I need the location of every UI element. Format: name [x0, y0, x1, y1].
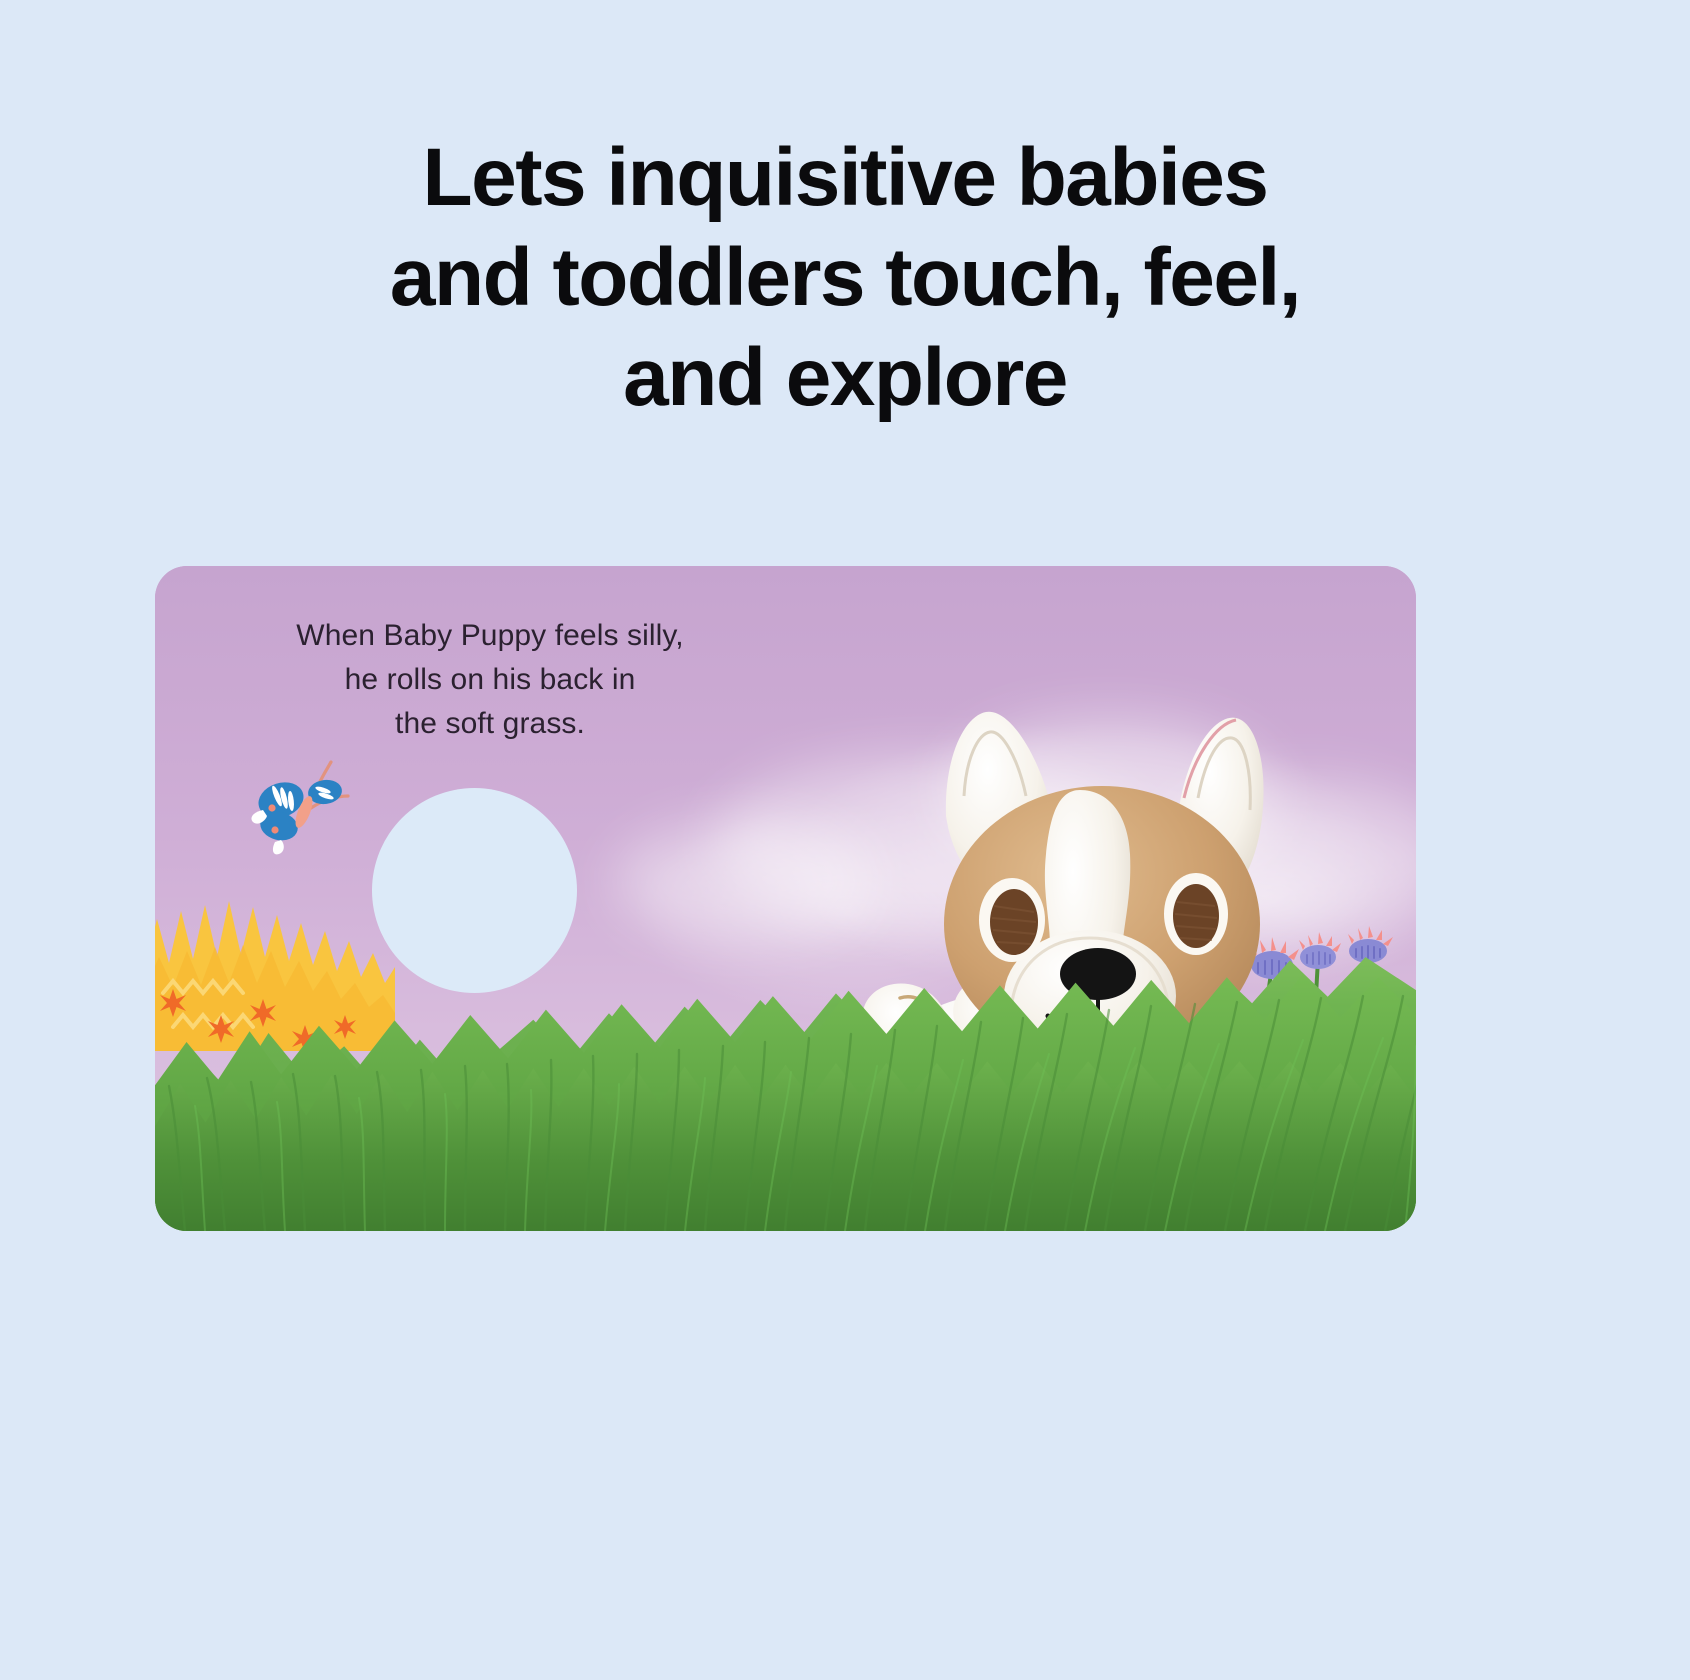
story-line-3: the soft grass.	[260, 702, 720, 746]
story-line-1: When Baby Puppy feels silly,	[260, 614, 720, 658]
board-book-page-image: When Baby Puppy feels silly, he rolls on…	[155, 566, 1416, 1231]
headline-line-2: and toddlers touch, feel,	[200, 228, 1490, 328]
yellow-bush-icon	[155, 871, 395, 1051]
story-line-2: he rolls on his back in	[260, 658, 720, 702]
headline-line-3: and explore	[200, 328, 1490, 428]
page-title: Lets inquisitive babies and toddlers tou…	[0, 128, 1690, 428]
butterfly-icon	[247, 756, 352, 856]
story-text: When Baby Puppy feels silly, he rolls on…	[260, 614, 720, 746]
headline-line-1: Lets inquisitive babies	[200, 128, 1490, 228]
die-cut-circle-hole	[372, 788, 577, 993]
